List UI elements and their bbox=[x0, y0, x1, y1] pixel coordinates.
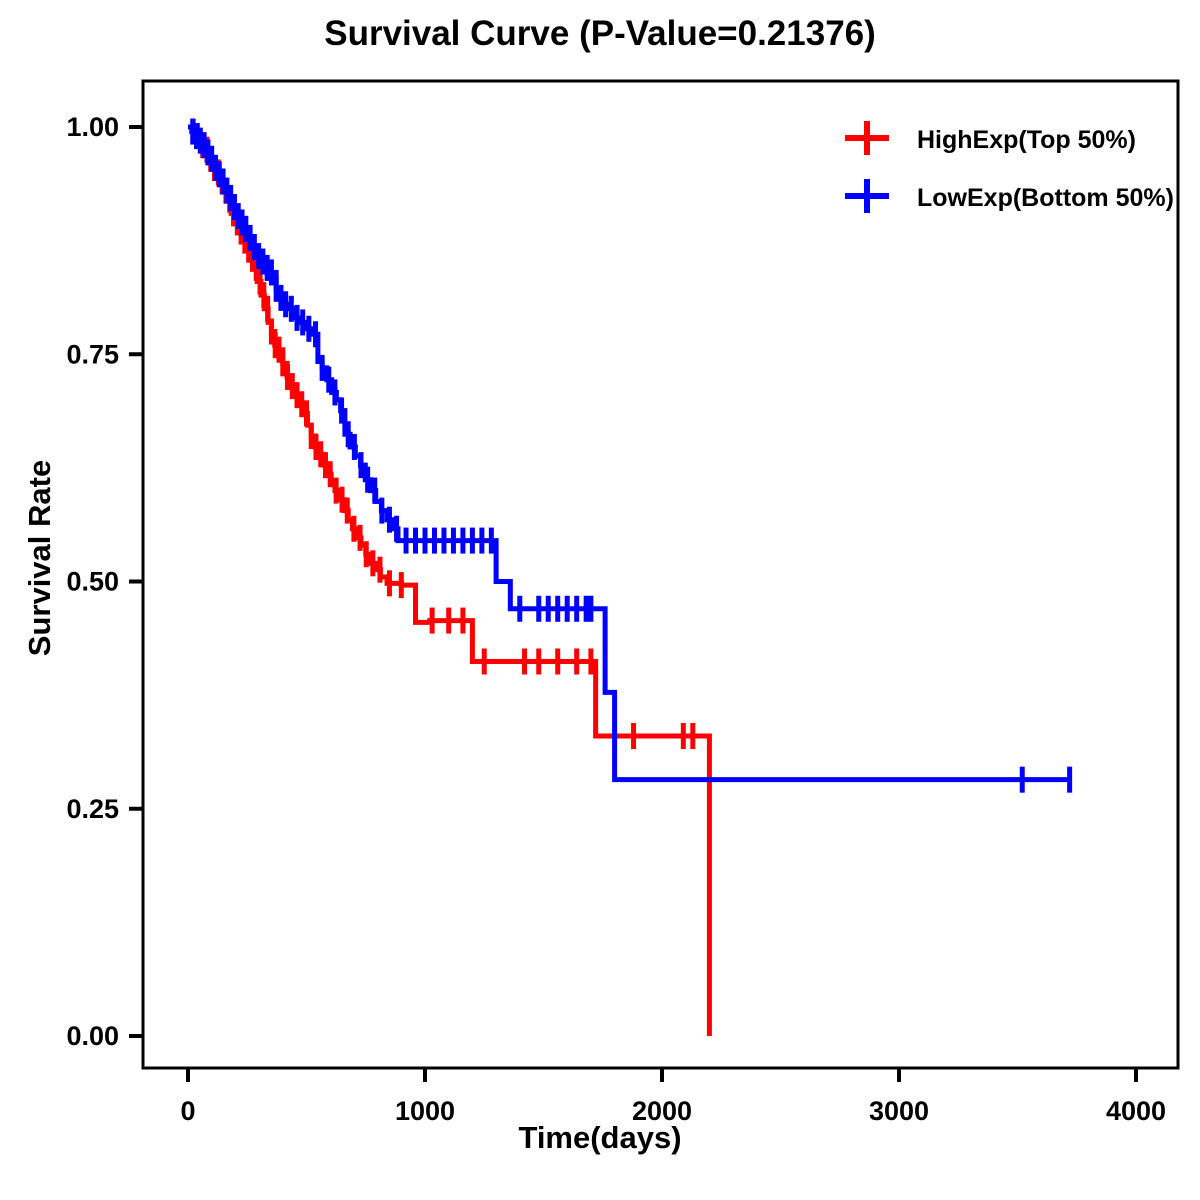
series-layer bbox=[188, 119, 1070, 1036]
y-tick-label: 0.50 bbox=[66, 567, 119, 597]
legend-item[interactable]: LowExp(Bottom 50%) bbox=[845, 179, 1174, 213]
x-tick-label: 2000 bbox=[632, 1096, 692, 1126]
y-tick-label: 1.00 bbox=[66, 112, 119, 142]
legend-item[interactable]: HighExp(Top 50%) bbox=[845, 121, 1136, 155]
y-tick-label: 0.25 bbox=[66, 794, 119, 824]
plot-frame bbox=[143, 81, 1178, 1068]
chart-canvas: 01000200030004000 0.000.250.500.751.00 H… bbox=[0, 0, 1200, 1200]
legend-label: HighExp(Top 50%) bbox=[917, 126, 1136, 154]
censor-marks bbox=[193, 119, 693, 749]
y-tick-label: 0.00 bbox=[66, 1021, 119, 1051]
x-axis-ticks: 01000200030004000 bbox=[180, 1068, 1166, 1126]
y-axis-ticks: 0.000.250.500.751.00 bbox=[66, 112, 143, 1051]
chart-legend: HighExp(Top 50%)LowExp(Bottom 50%) bbox=[845, 121, 1174, 213]
x-tick-label: 1000 bbox=[395, 1096, 455, 1126]
x-tick-label: 3000 bbox=[869, 1096, 929, 1126]
legend-label: LowExp(Bottom 50%) bbox=[917, 184, 1174, 212]
x-tick-label: 4000 bbox=[1106, 1096, 1166, 1126]
x-tick-label: 0 bbox=[180, 1096, 195, 1126]
y-tick-label: 0.75 bbox=[66, 339, 119, 369]
survival-chart-figure: Survival Curve (P-Value=0.21376) Surviva… bbox=[0, 0, 1200, 1200]
